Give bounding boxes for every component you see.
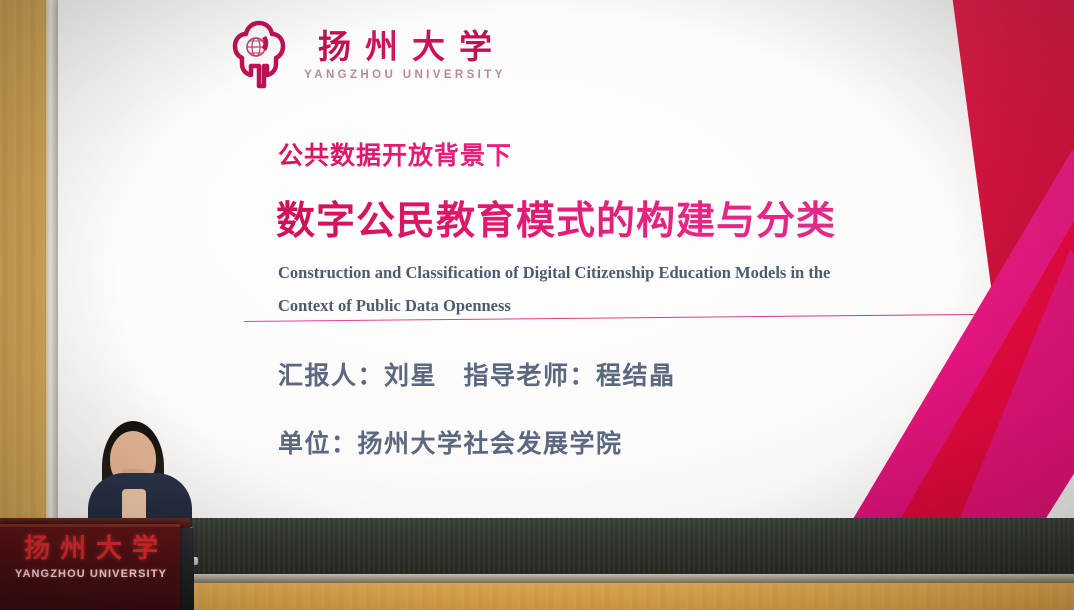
podium-chinese-name: 扬州大学 [14, 533, 168, 566]
slide-eyebrow: 公共数据开放背景下 [278, 136, 512, 172]
chalkboard-trim [58, 574, 1074, 583]
lecture-hall-scene: 扬州大学 YANGZHOU UNIVERSITY 公共数据开放背景下 数字公民教… [0, 0, 1074, 610]
subtitle-line-1: Construction and Classification of Digit… [278, 256, 908, 289]
presenter-line: 汇报人：刘星 指导老师：程结晶 [278, 356, 676, 392]
logo-chinese-name: 扬州大学 [304, 29, 506, 65]
university-logo: 扬州大学 YANGZHOU UNIVERSITY [228, 20, 506, 90]
projection-screen: 扬州大学 YANGZHOU UNIVERSITY 公共数据开放背景下 数字公民教… [58, 0, 1074, 520]
yangzhou-university-emblem-icon [228, 20, 290, 90]
wall-pillar [46, 0, 58, 520]
podium-english-name: YANGZHOU UNIVERSITY [15, 568, 167, 580]
affiliation-line: 单位：扬州大学社会发展学院 [278, 424, 623, 460]
logo-english-name: YANGZHOU UNIVERSITY [304, 69, 506, 81]
slide-headline: 数字公民教育模式的构建与分类 [276, 190, 836, 246]
chalkboard-texture [58, 518, 1074, 576]
podium-sign: 扬州大学 YANGZHOU UNIVERSITY [10, 533, 172, 580]
logo-text-block: 扬州大学 YANGZHOU UNIVERSITY [304, 29, 506, 80]
chalkboard [58, 518, 1074, 576]
slide-subtitle: Construction and Classification of Digit… [278, 256, 908, 322]
podium: 扬州大学 YANGZHOU UNIVERSITY [0, 524, 180, 610]
